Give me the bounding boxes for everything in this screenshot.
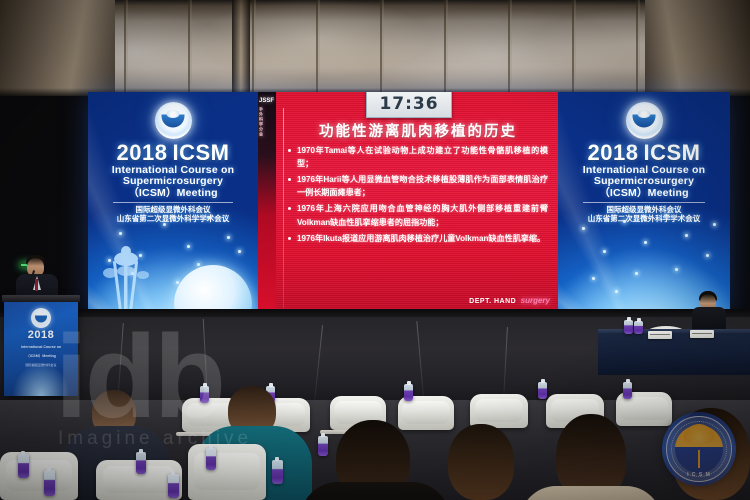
audience-chair (188, 444, 266, 500)
water-bottle (136, 452, 146, 474)
audience-chair (0, 452, 78, 500)
seal-text: I C S M (662, 472, 736, 478)
brand-year-acronym: 2018ICSM (88, 142, 258, 164)
water-bottle (200, 386, 209, 403)
water-bottle (623, 382, 632, 399)
divider (583, 202, 705, 203)
society-logo-cn: 手外科学分会 (259, 107, 263, 137)
backdrop-crease (503, 327, 508, 401)
brand-line3: （ICSM）Meeting (88, 188, 258, 199)
lectern-line2: （ICSM）Meeting (4, 354, 78, 359)
icsm-emblem-icon (626, 102, 663, 139)
brand-line3: （ICSM）Meeting (558, 188, 730, 199)
audience-head (448, 424, 514, 500)
wall-right-jamb (645, 0, 750, 96)
slide-bullet: 1970年Tamai等人在试验动物上成功建立了功能性骨骼肌移植的模型； (288, 144, 548, 170)
slide-bullet-list: 1970年Tamai等人在试验动物上成功建立了功能性骨骼肌移植的模型； 1976… (288, 144, 548, 248)
water-bottle (272, 460, 283, 484)
audience-chair (398, 396, 454, 430)
back-wall (0, 0, 750, 96)
slide-title: 功能性游离肌肉移植的历史 (286, 120, 550, 141)
slide-vertical-rule (283, 108, 284, 308)
brand-cn-line1: 国际超级显微外科会议 (558, 205, 730, 214)
brand-year-acronym: 2018ICSM (558, 142, 730, 164)
led-panel-left: 2018ICSM International Course on Supermi… (88, 92, 258, 317)
backdrop-crease (416, 321, 424, 405)
speaker-tie (35, 279, 38, 291)
brand-line2: Supermicrosurgery (558, 176, 730, 187)
slide-bullet: 1976年Ikuta报道应用游离肌肉移植治疗儿童Volkman缺血性肌挛缩。 (288, 232, 548, 245)
lectern-podium: 2018 International Course on （ICSM）Meeti… (4, 300, 78, 396)
panel-branding-left: 2018ICSM International Course on Supermi… (88, 102, 258, 224)
wall-left-jamb (0, 0, 115, 96)
led-video-wall: 2018ICSM International Course on Supermi… (88, 92, 730, 317)
backdrop-crease (314, 325, 323, 403)
led-panel-center: JSSF 手外科学分会 17:36 功能性游离肌肉移植的历史 1970年Tama… (258, 92, 558, 317)
conference-hall-photo: 2018ICSM International Course on Supermi… (0, 0, 750, 500)
name-plate (648, 331, 672, 339)
water-bottle (538, 382, 547, 399)
water-bottle (624, 320, 633, 334)
slide-bullet: 1976年Harii等人用显微血管吻合技术移植股薄肌作为面部表情肌治疗一例长期面… (288, 173, 548, 199)
wall-pillar (232, 0, 250, 96)
seal-stem (698, 450, 700, 468)
icsm-emblem-icon (31, 308, 51, 328)
water-bottle (206, 448, 216, 470)
head-table (598, 333, 750, 375)
hand-surgery-logo: DEPT. HAND surgery (469, 291, 550, 307)
brand-year: 2018 (588, 140, 639, 165)
water-bottle (318, 436, 328, 456)
name-plate (690, 330, 714, 338)
lectern-line1: International Course on (4, 345, 78, 350)
lectern-top (2, 295, 80, 302)
brand-line2: Supermicrosurgery (88, 176, 258, 187)
brand-year: 2018 (117, 140, 168, 165)
water-bottle (634, 321, 643, 334)
panel-branding-right: 2018ICSM International Course on Supermi… (558, 102, 730, 224)
pagoda-tower-graphic (102, 241, 154, 315)
brand-acronym: ICSM (643, 140, 700, 165)
water-bottle (404, 384, 413, 401)
water-bottle (18, 454, 29, 478)
brand-cn-line2: 山东省第二次显微外科学学术会议 (558, 214, 730, 223)
lectern-glow (12, 362, 70, 396)
brand-cn-line2: 山东省第二次显微外科学学术会议 (88, 214, 258, 223)
brand-acronym: ICSM (172, 140, 229, 165)
slide-bullet: 1976年上海六院应用吻合血管神经的胸大肌外侧部移植重建前臂Volkman缺血性… (288, 202, 548, 228)
audience-shoulders (300, 482, 450, 500)
watermark-seal: I C S M (662, 412, 736, 486)
water-bottle (44, 470, 55, 496)
slide-left-bar: JSSF 手外科学分会 (258, 92, 276, 317)
session-clock: 17:36 (366, 92, 452, 118)
led-panel-right: 2018ICSM International Course on Supermi… (558, 92, 730, 317)
icsm-emblem-icon (155, 102, 192, 139)
lectern-year: 2018 (4, 330, 78, 341)
divider (113, 202, 233, 203)
brand-cn-line1: 国际超级显微外科会议 (88, 205, 258, 214)
society-logo-text: JSSF (259, 98, 274, 104)
hand-surgery-logo-line2: surgery (521, 296, 550, 305)
society-logo: JSSF 手外科学分会 (259, 98, 274, 137)
session-clock-time: 17:36 (379, 94, 438, 114)
hand-surgery-logo-line1: DEPT. HAND (469, 298, 516, 305)
audience-chair (470, 394, 528, 428)
presentation-slide: JSSF 手外科学分会 17:36 功能性游离肌肉移植的历史 1970年Tama… (258, 92, 558, 317)
water-bottle (168, 474, 179, 498)
